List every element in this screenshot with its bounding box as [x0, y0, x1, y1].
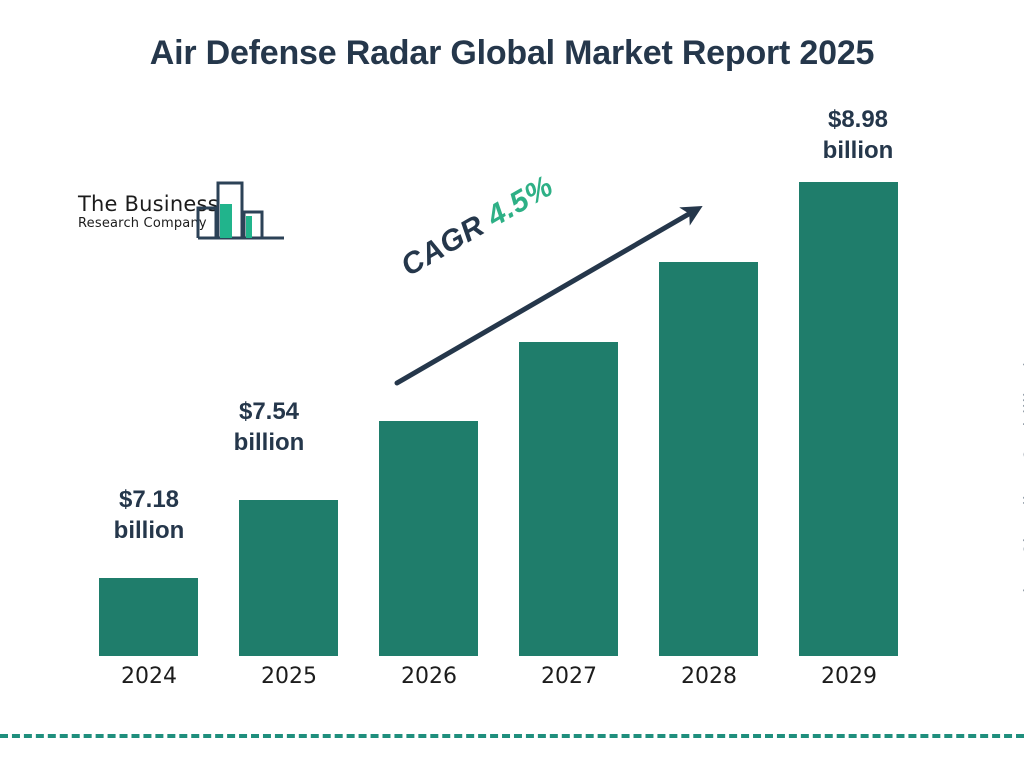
x-tick-2024: 2024: [89, 664, 209, 689]
value-label-2025: $7.54 billion: [209, 396, 329, 458]
value-label-2029-amount: $8.98: [798, 104, 918, 135]
x-tick-2028: 2028: [649, 664, 769, 689]
bar-2029: [799, 182, 898, 656]
value-label-2024-amount: $7.18: [89, 484, 209, 515]
value-label-2024: $7.18 billion: [89, 484, 209, 546]
value-label-2025-amount: $7.54: [209, 396, 329, 427]
x-tick-2027: 2027: [509, 664, 629, 689]
value-label-2029: $8.98 billion: [798, 104, 918, 166]
bar-2026: [379, 421, 478, 656]
chart-canvas: Air Defense Radar Global Market Report 2…: [0, 0, 1024, 768]
bar-2025: [239, 500, 338, 656]
value-label-2025-unit: billion: [209, 427, 329, 458]
footer-divider: [0, 734, 1024, 738]
value-label-2024-unit: billion: [89, 515, 209, 546]
y-axis-label: Market Size (in USD billion): [1020, 330, 1024, 660]
value-label-2029-unit: billion: [798, 135, 918, 166]
x-tick-2026: 2026: [369, 664, 489, 689]
bar-2024: [99, 578, 198, 656]
x-tick-2025: 2025: [229, 664, 349, 689]
bar-2027: [519, 342, 618, 656]
plot-area: $7.18 billion $7.54 billion $8.98 billio…: [0, 0, 1024, 768]
bar-2028: [659, 262, 758, 656]
x-tick-2029: 2029: [789, 664, 909, 689]
